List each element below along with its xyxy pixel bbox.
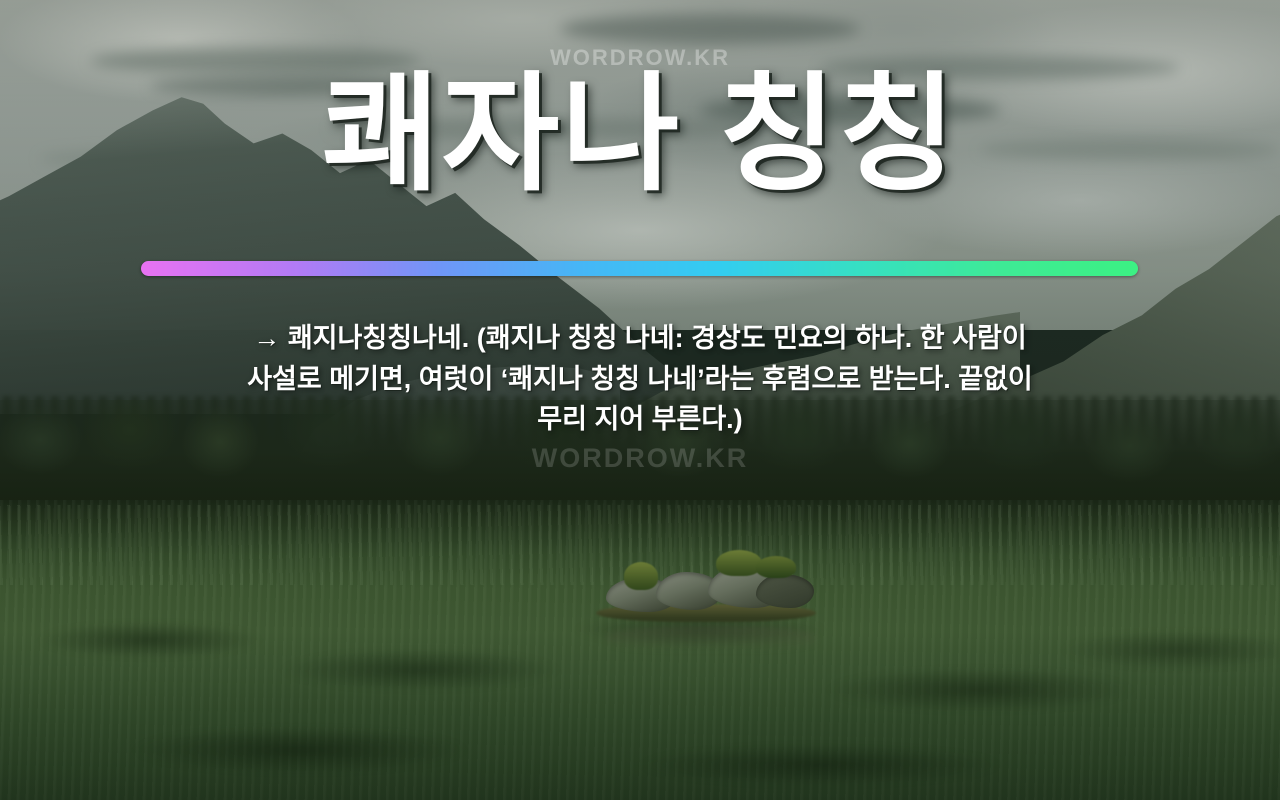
watermark-middle: WORDROW.KR: [0, 443, 1280, 474]
page-title: 쾌자나 칭칭: [0, 68, 1280, 202]
gradient-divider: [141, 261, 1138, 276]
definition-line-1: → 쾌지나칭칭나네. (쾌지나 칭칭 나네: 경상도 민요의 하나. 한 사람이: [140, 318, 1140, 359]
definition-line-2: 사설로 메기면, 여럿이 ‘쾌지나 칭칭 나네’라는 후렴으로 받는다. 끝없이: [140, 359, 1140, 400]
definition-text: → 쾌지나칭칭나네. (쾌지나 칭칭 나네: 경상도 민요의 하나. 한 사람이…: [140, 318, 1140, 440]
word-card: WORDROW.KR WORDROW.KR 쾌자나 칭칭 → 쾌지나칭칭나네. …: [0, 0, 1280, 800]
definition-line-3: 무리 지어 부른다.): [140, 399, 1140, 440]
